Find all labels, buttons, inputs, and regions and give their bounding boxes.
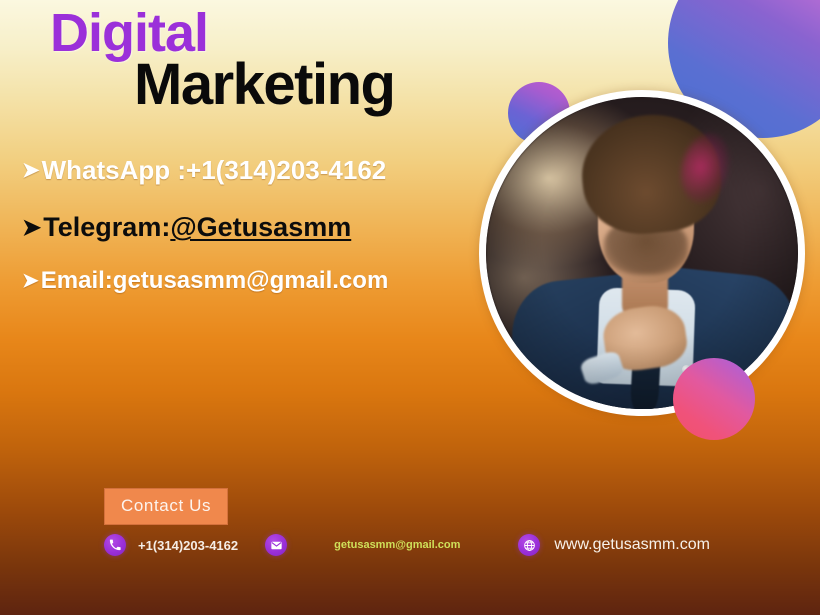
page-title: Digital Marketing — [50, 6, 394, 114]
portrait-ring — [479, 90, 805, 416]
arrow-icon: ➤ — [22, 216, 41, 239]
arrow-icon: ➤ — [22, 160, 40, 181]
contact-line-whatsapp: ➤ WhatsApp : +1(314)203-4162 — [22, 155, 462, 186]
decorative-circle-pink — [673, 358, 755, 440]
whatsapp-label: WhatsApp : — [42, 155, 186, 186]
footer-contact-bar: +1(314)203-4162 getusasmm@gmail.com www.… — [104, 534, 710, 556]
footer-website-text: www.getusasmm.com — [554, 536, 710, 554]
globe-icon[interactable] — [518, 534, 540, 556]
contact-us-button[interactable]: Contact Us — [104, 488, 228, 525]
telegram-label: Telegram: — [43, 212, 170, 243]
contact-line-telegram: ➤ Telegram: @Getusasmm — [22, 212, 462, 243]
contact-line-email: ➤ Email: getusasmm@gmail.com — [22, 267, 462, 295]
title-line-marketing: Marketing — [134, 55, 394, 114]
email-label: Email: — [41, 267, 113, 295]
phone-icon[interactable] — [104, 534, 126, 556]
envelope-icon[interactable] — [265, 534, 287, 556]
whatsapp-number: +1(314)203-4162 — [186, 155, 386, 186]
footer-phone-text: +1(314)203-4162 — [138, 538, 238, 553]
email-address: getusasmm@gmail.com — [113, 267, 388, 295]
contact-list: ➤ WhatsApp : +1(314)203-4162 ➤ Telegram:… — [22, 155, 462, 295]
footer-email-text: getusasmm@gmail.com — [334, 539, 460, 551]
telegram-handle-link[interactable]: @Getusasmm — [170, 212, 351, 243]
portrait-photo — [486, 97, 798, 409]
arrow-icon: ➤ — [22, 271, 39, 291]
